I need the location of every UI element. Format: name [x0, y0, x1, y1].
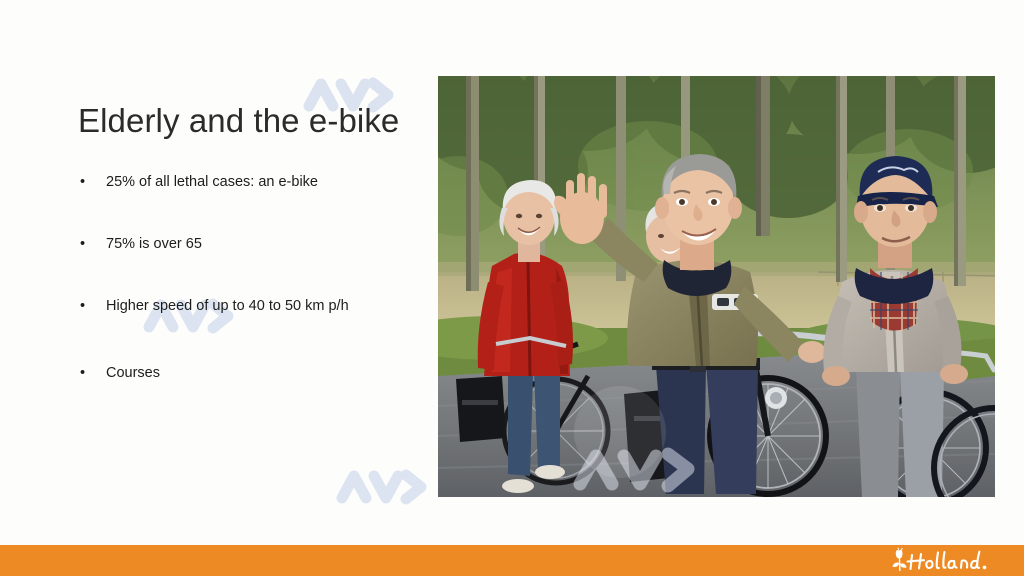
list-item-label: Higher speed of up to 40 to 50 km p/h: [106, 296, 393, 316]
list-item: • Courses: [78, 363, 393, 383]
slide-canvas: Elderly and the e-bike • 25% of all leth…: [0, 0, 1024, 576]
page-title: Elderly and the e-bike: [78, 101, 438, 141]
bullet-marker: •: [80, 296, 85, 316]
tulip-icon: [892, 548, 906, 571]
bullet-marker: •: [80, 363, 85, 383]
list-item: • Higher speed of up to 40 to 50 km p/h: [78, 296, 393, 316]
list-item-label: 25% of all lethal cases: an e-bike: [106, 172, 393, 192]
bullet-marker: •: [80, 172, 85, 192]
list-item-label: 75% is over 65: [106, 234, 393, 254]
av-chevron-watermark: [336, 464, 428, 510]
holland-period: [983, 566, 987, 570]
holland-wordmark: [908, 552, 980, 569]
elderly-cyclists-photo: [438, 76, 995, 497]
bullet-list: • 25% of all lethal cases: an e-bike • 7…: [78, 172, 393, 383]
holland-logo: [888, 547, 998, 573]
bullet-marker: •: [80, 234, 85, 254]
list-item: • 25% of all lethal cases: an e-bike: [78, 172, 393, 192]
footer-bar: [0, 545, 1024, 576]
list-item: • 75% is over 65: [78, 234, 393, 254]
list-item-label: Courses: [106, 363, 393, 383]
